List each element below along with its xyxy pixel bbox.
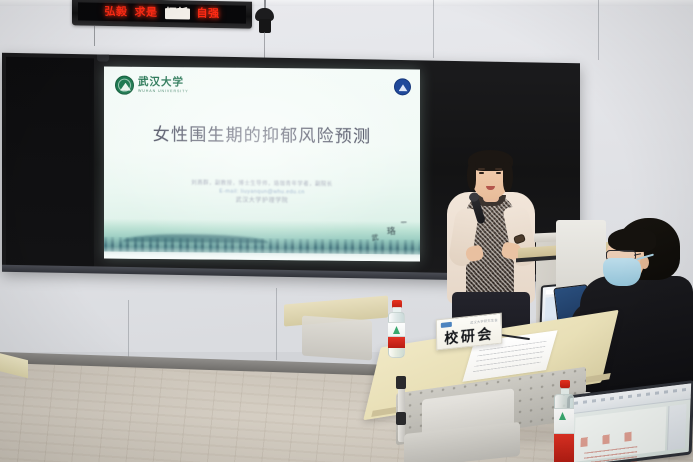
- laptop-front-document: [574, 406, 666, 461]
- presenter-eye-left: [479, 172, 484, 174]
- led-word-1: 弘毅: [105, 6, 128, 17]
- university-name-en: WUHAN UNIVERSITY: [138, 90, 189, 94]
- classroom-scene: 弘毅 求是 拓新 自强 武汉大学 WUHAN UNIVERSITY 女性围生期的…: [0, 0, 693, 462]
- laptop-front-sidebar: [667, 404, 687, 450]
- led-word-3: 拓新: [165, 8, 190, 19]
- wall-seam-4: [598, 0, 599, 60]
- led-word-4: 自强: [197, 8, 220, 19]
- bottle-band: [388, 337, 405, 348]
- wall-seam-3: [433, 0, 434, 58]
- chair-back[interactable]: [302, 316, 372, 361]
- ceiling-camera-body: [259, 19, 271, 33]
- laptop-front-headings: [580, 430, 641, 447]
- blackboard-left-panel[interactable]: [6, 57, 94, 269]
- slide-title: 女性围生期的抑郁风险预测: [104, 119, 420, 147]
- table-leg-cap-bottom: [396, 412, 406, 425]
- led-banner-cable: [94, 26, 95, 46]
- table-leg-cap-top: [396, 376, 406, 389]
- student-hair-fringe: [608, 228, 656, 252]
- presenter-hair-left: [467, 162, 476, 190]
- blackboard-top-clip: [97, 54, 109, 61]
- bottle-band: [554, 434, 574, 462]
- paper-text-lines: [473, 341, 547, 374]
- calligraphy-char-2: 珞: [387, 227, 396, 236]
- presenter-eye-right: [496, 172, 501, 174]
- laptop-front-text: [583, 446, 637, 462]
- presentation-slide[interactable]: 武汉大学 WUHAN UNIVERSITY 女性围生期的抑郁风险预测 刘燕群，副…: [104, 66, 420, 261]
- department-seal-icon: [394, 78, 411, 95]
- face-mask-icon: [603, 258, 641, 286]
- led-word-2: 求是: [135, 7, 158, 18]
- ceiling-camera-pole: [264, 32, 265, 58]
- slide-org-line: 武汉大学护理学院: [104, 195, 420, 207]
- university-logo: 武汉大学 WUHAN UNIVERSITY: [115, 76, 189, 96]
- led-motto-banner: 弘毅 求是 拓新 自强: [72, 0, 252, 29]
- university-name-cn: 武汉大学: [138, 78, 189, 89]
- bottle-label: [554, 408, 574, 434]
- slide-subtitle: 刘燕群，副教授，博士生导师，珞珈青年学者，副院长 E-mail: liuyanq…: [104, 178, 420, 207]
- slide-footer-artwork: 珈 珞 武: [104, 218, 420, 261]
- wall-seam-1: [128, 300, 129, 360]
- presenter-brow-left: [478, 168, 485, 170]
- university-seal-icon: [115, 76, 134, 95]
- presenter-brow-right: [495, 168, 502, 170]
- calligraphy-char-3: 武: [371, 234, 379, 242]
- bottle-label: [388, 322, 405, 337]
- calligraphy-char-1: 珈: [400, 218, 407, 224]
- bottle-cap-icon: [560, 380, 570, 388]
- wall-seam-2: [276, 288, 277, 360]
